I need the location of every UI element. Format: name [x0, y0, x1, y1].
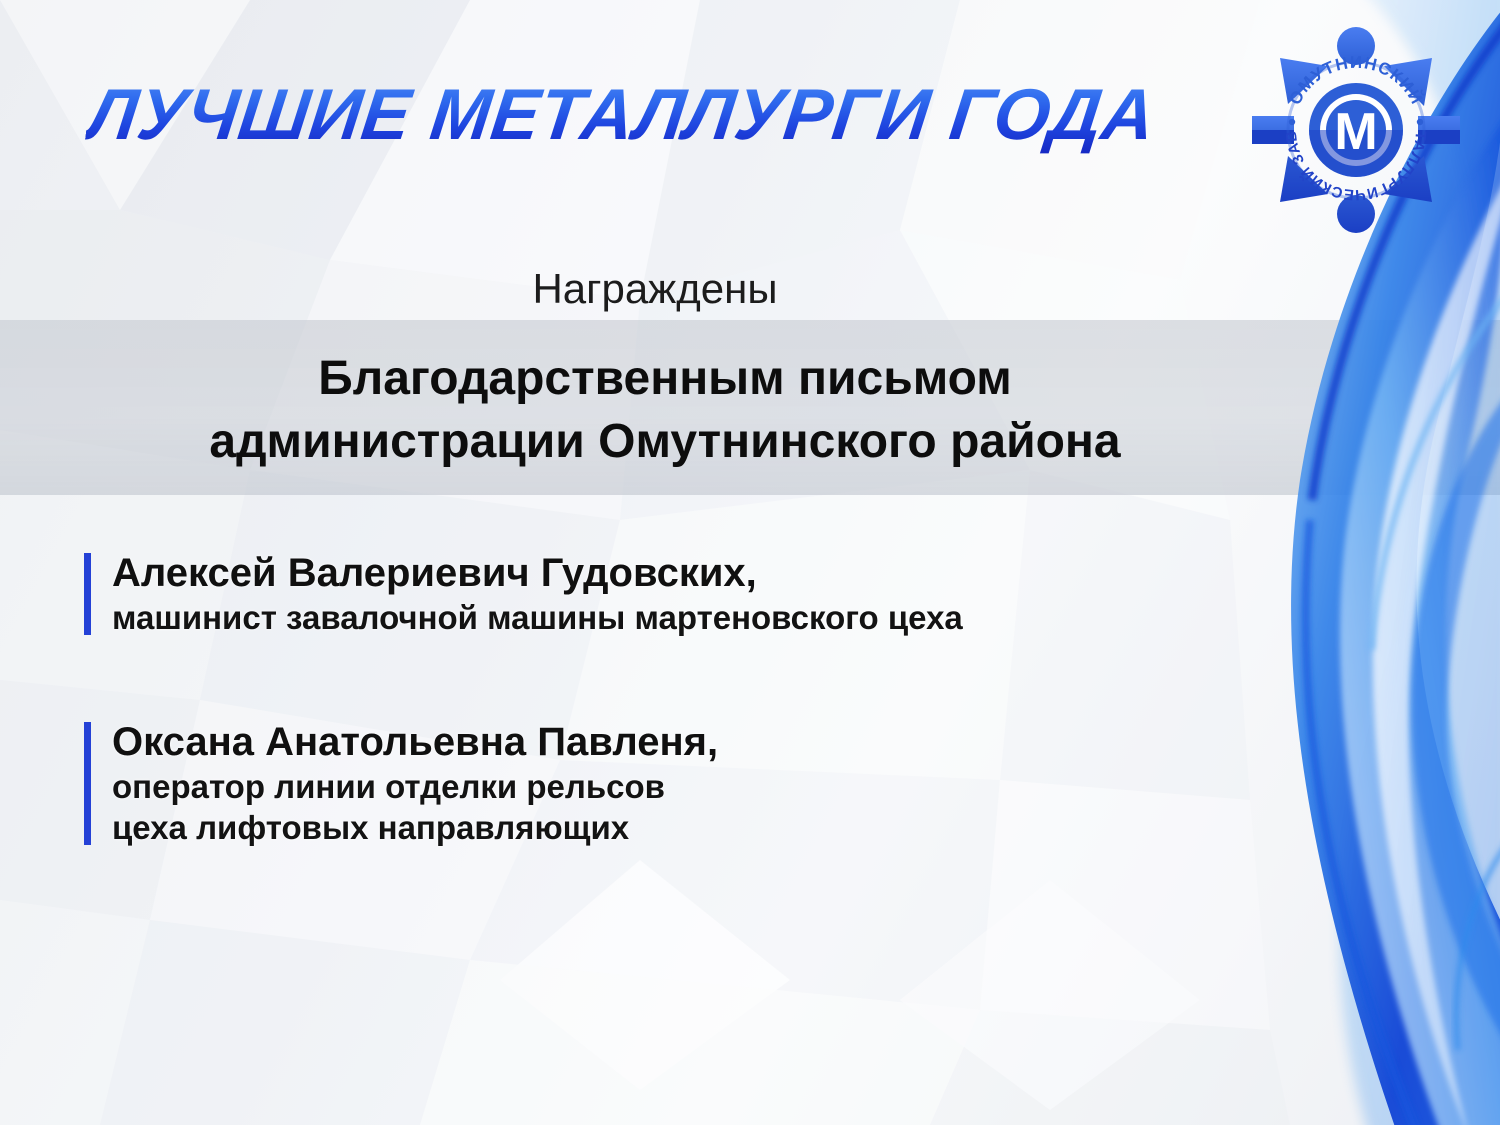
honoree-role-line: цеха лифтовых направляющих	[112, 808, 718, 849]
honoree-name: Оксана Анатольевна Павленя,	[112, 718, 718, 767]
award-title-line-1: Благодарственным письмом	[0, 347, 1330, 410]
award-title-line-2: администрации Омутнинского района	[0, 410, 1330, 473]
award-title: Благодарственным письмом администрации О…	[0, 347, 1330, 474]
accent-bar-icon	[84, 722, 91, 845]
honoree-role: оператор линии отделки рельсов цеха лифт…	[112, 767, 718, 849]
honoree-role-line: машинист завалочной машины мартеновского…	[112, 598, 963, 639]
honoree-name: Алексей Валериевич Гудовских,	[112, 549, 963, 598]
awarded-label: Награждены	[0, 265, 1310, 313]
honoree-role-line: оператор линии отделки рельсов	[112, 767, 718, 808]
honoree-item: Алексей Валериевич Гудовских, машинист з…	[84, 549, 963, 639]
page-title: ЛУЧШИЕ МЕТАЛЛУРГИ ГОДА	[83, 78, 1159, 154]
honoree-role: машинист завалочной машины мартеновского…	[112, 598, 963, 639]
presentation-slide: ЛУЧШИЕ МЕТАЛЛУРГИ ГОДА	[0, 0, 1500, 1125]
company-logo: ОМУТНИНСКИЙ МЕТАЛЛУРГИЧЕСКИЙ ЗАВОД М	[1248, 22, 1464, 238]
honoree-item: Оксана Анатольевна Павленя, оператор лин…	[84, 718, 718, 849]
accent-bar-icon	[84, 553, 91, 635]
logo-monogram: М	[1334, 103, 1377, 161]
